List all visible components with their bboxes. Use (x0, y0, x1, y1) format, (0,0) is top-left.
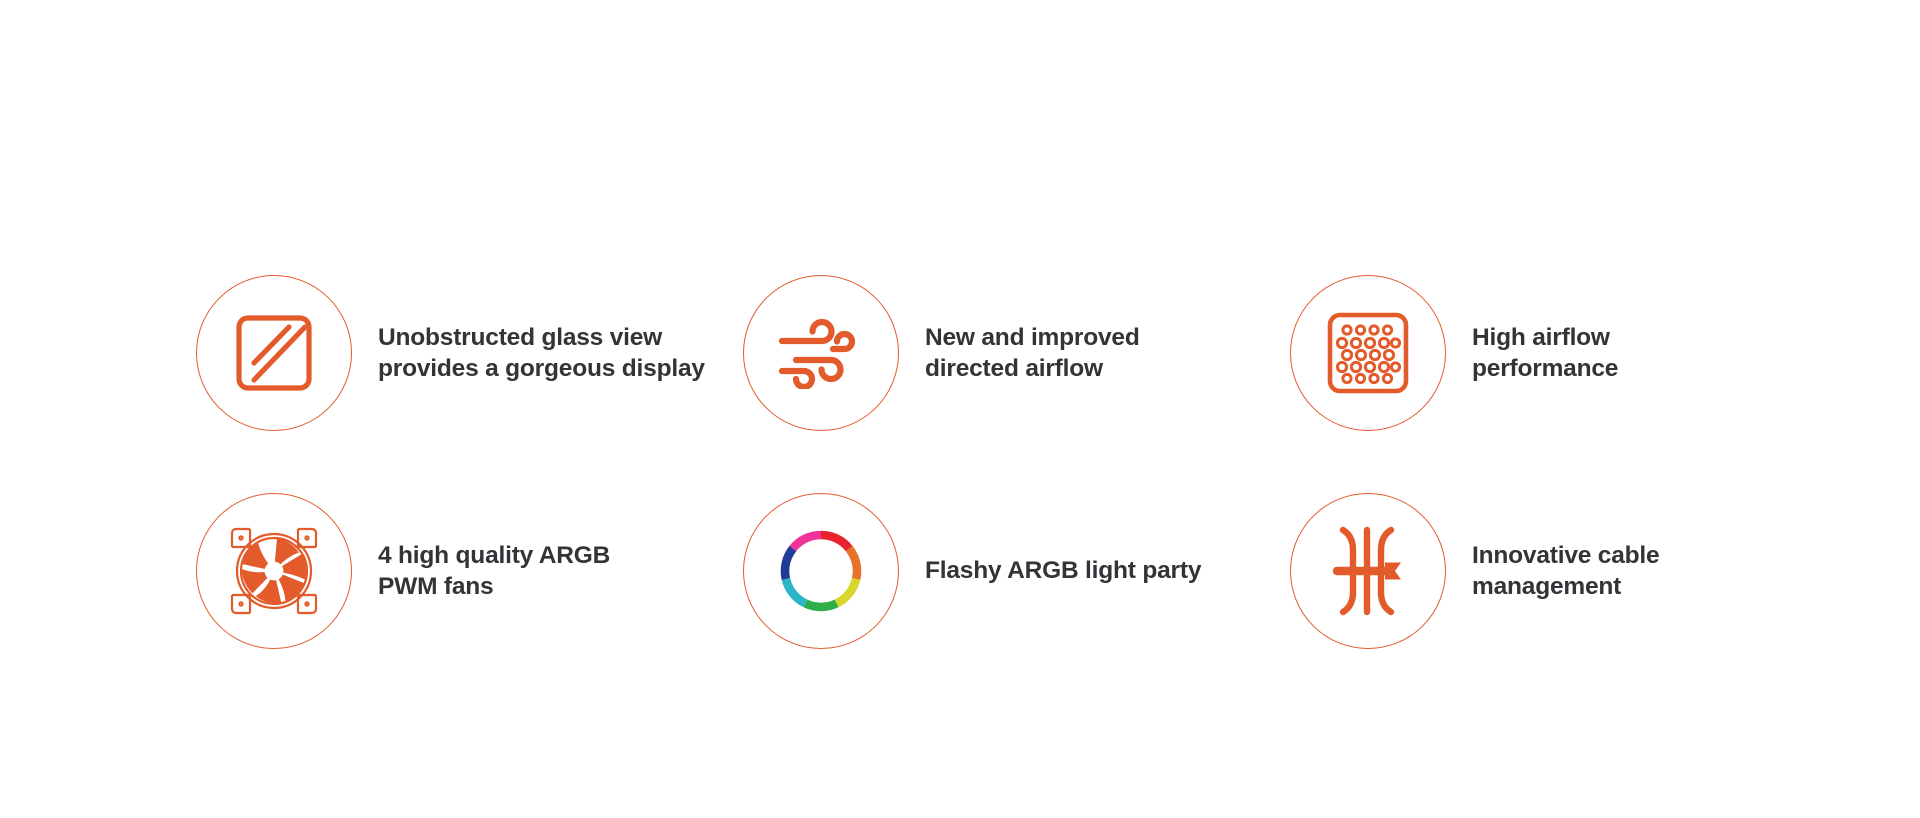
icon-circle (196, 275, 352, 431)
features-grid: Unobstructed glass view provides a gorge… (196, 244, 1726, 680)
case-fan-icon (228, 525, 320, 617)
icon-circle (743, 275, 899, 431)
icon-circle (1290, 493, 1446, 649)
feature-label: High airflow performance (1472, 322, 1726, 385)
feature-label: Innovative cable management (1472, 540, 1659, 603)
argb-color-ring-icon (776, 526, 866, 616)
feature-item-mesh: High airflow performance (1290, 244, 1726, 462)
feature-label: 4 high quality ARGB PWM fans (378, 540, 610, 603)
feature-label: Unobstructed glass view provides a gorge… (378, 322, 705, 385)
airflow-wind-icon (778, 317, 864, 389)
cable-tie-icon (1331, 526, 1405, 616)
feature-item-fans: 4 high quality ARGB PWM fans (196, 462, 743, 680)
icon-circle (1290, 275, 1446, 431)
icon-circle (743, 493, 899, 649)
feature-label: New and improved directed airflow (925, 322, 1140, 385)
mesh-grid-icon (1326, 311, 1410, 395)
feature-item-argb: Flashy ARGB light party (743, 462, 1290, 680)
feature-item-cable: Innovative cable management (1290, 462, 1726, 680)
icon-circle (196, 493, 352, 649)
feature-item-airflow: New and improved directed airflow (743, 244, 1290, 462)
feature-item-glass-view: Unobstructed glass view provides a gorge… (196, 244, 743, 462)
feature-label: Flashy ARGB light party (925, 555, 1201, 586)
glass-panel-icon (233, 312, 315, 394)
